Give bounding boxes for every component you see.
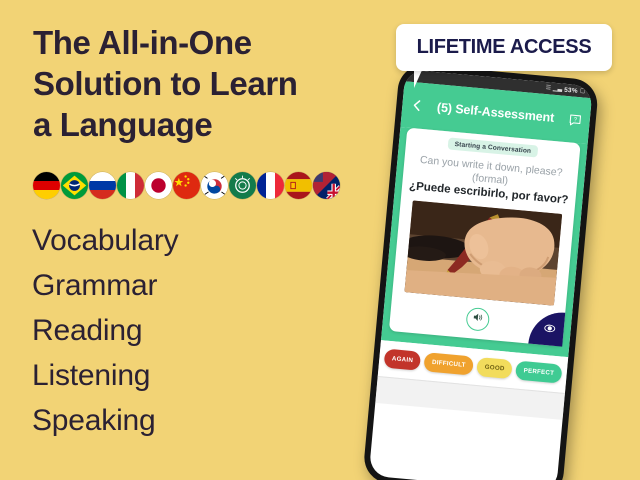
card-area: Starting a Conversation Can you write it…	[381, 127, 588, 357]
grade-button-again[interactable]: AGAIN	[384, 348, 422, 370]
flag-usa-uk-icon	[313, 172, 340, 199]
speaker-icon	[471, 309, 484, 328]
card-photo	[404, 200, 562, 305]
lifetime-access-badge: LIFETIME ACCESS	[396, 24, 612, 71]
signal-icon: ▁▃	[553, 86, 563, 93]
feature-item-reading: Reading	[32, 308, 332, 353]
headline-line-1: The All-in-One	[33, 22, 363, 63]
speech-bubble-tail	[414, 68, 423, 88]
flag-japan-icon	[145, 172, 172, 199]
battery-percent-label: 53%	[564, 86, 578, 94]
help-question-icon[interactable]: ?	[568, 113, 582, 127]
feature-list: Vocabulary Grammar Reading Listening Spe…	[32, 218, 332, 443]
language-flag-row	[33, 172, 340, 199]
phone-device: ☰ ▁▃ 53% ▢ (5) Self-Assessment ?	[333, 42, 609, 480]
reveal-answer-button[interactable]	[528, 309, 565, 346]
feature-item-listening: Listening	[32, 353, 332, 398]
flag-germany-icon	[33, 172, 60, 199]
app-title: (5) Self-Assessment	[422, 99, 570, 126]
eye-icon	[537, 316, 556, 339]
flag-france-icon	[257, 172, 284, 199]
grade-button-difficult[interactable]: DIFFICULT	[424, 352, 474, 375]
grade-button-perfect[interactable]: PERFECT	[515, 360, 562, 383]
feature-item-grammar: Grammar	[32, 263, 332, 308]
lifetime-access-label: LIFETIME ACCESS	[417, 36, 592, 59]
flag-china-icon	[173, 172, 200, 199]
flag-spain-icon	[285, 172, 312, 199]
flag-arab-league-icon	[229, 172, 256, 199]
headline-line-2: Solution to Learn	[33, 63, 363, 104]
svg-text:?: ?	[573, 117, 578, 123]
page-title: The All-in-One Solution to Learn a Langu…	[33, 22, 363, 145]
grade-button-good[interactable]: GOOD	[476, 357, 513, 379]
phone-mockup: ☰ ▁▃ 53% ▢ (5) Self-Assessment ?	[352, 52, 640, 480]
flag-brazil-icon	[61, 172, 88, 199]
feature-item-vocabulary: Vocabulary	[32, 218, 332, 263]
headline-line-3: a Language	[33, 104, 363, 145]
flag-south-korea-icon	[201, 172, 228, 199]
battery-icon: ▢	[579, 88, 585, 94]
flag-italy-icon	[117, 172, 144, 199]
flag-russia-icon	[89, 172, 116, 199]
marketing-panel: The All-in-One Solution to Learn a Langu…	[0, 0, 378, 480]
category-tag: Starting a Conversation	[447, 137, 538, 157]
wifi-icon: ☰	[545, 85, 551, 91]
phone-screen: ☰ ▁▃ 53% ▢ (5) Self-Assessment ?	[369, 69, 593, 480]
audio-play-button[interactable]	[465, 306, 490, 331]
feature-item-speaking: Speaking	[32, 398, 332, 443]
promo-screenshot: The All-in-One Solution to Learn a Langu…	[0, 0, 640, 480]
flashcard[interactable]: Starting a Conversation Can you write it…	[389, 128, 581, 346]
